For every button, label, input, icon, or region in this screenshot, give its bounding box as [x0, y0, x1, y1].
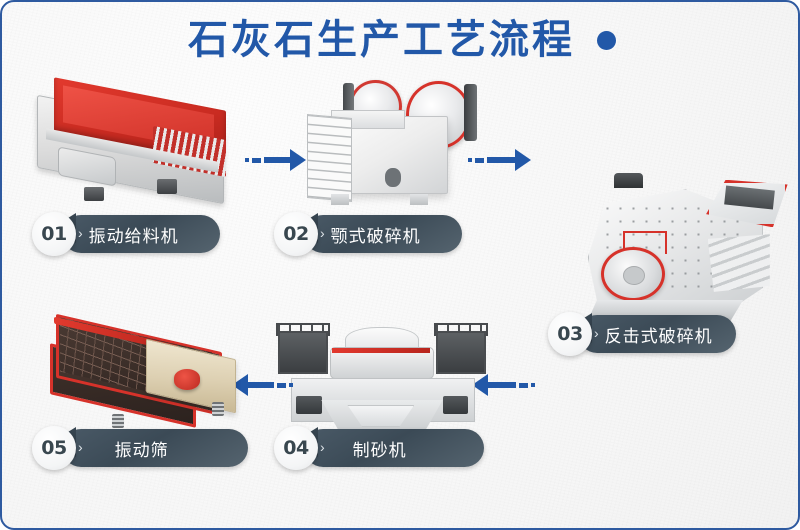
step-badge-01: 01 [32, 212, 76, 256]
sand-motor-box [443, 396, 469, 414]
impact-flywheel [601, 247, 665, 301]
screen-exciter-hub [174, 369, 200, 390]
sand-motor-box [296, 396, 322, 414]
impact-top-motor [614, 173, 643, 187]
arrow-dash [519, 383, 528, 388]
step-label-02[interactable]: 02 › 颚式破碎机 [274, 212, 462, 256]
arrow-shaft [488, 382, 516, 388]
step-badge-05: 05 [32, 426, 76, 470]
machine-image-vibrating-feeder [24, 84, 239, 206]
chevron-right-icon: › [78, 440, 83, 454]
arrow-shaft [487, 157, 515, 163]
sand-side-platform [436, 331, 485, 374]
machine-image-sand-making-machine [274, 307, 490, 429]
chevron-right-icon: › [320, 440, 325, 454]
step-label-text-02: 颚式破碎机 [331, 222, 421, 247]
chevron-right-icon: › [594, 326, 599, 340]
jaw-leg [331, 194, 349, 206]
screen-spring [212, 402, 224, 417]
step-badge-02: 02 [274, 212, 318, 256]
page-title-wrap: 石灰石生产工艺流程 [2, 20, 800, 60]
arrow-dot [468, 158, 472, 162]
jaw-leg [410, 194, 428, 206]
step-label-text-05: 振动筛 [115, 436, 169, 461]
step-label-05[interactable]: 05 › 振动筛 [32, 426, 248, 470]
arrow-shaft [248, 382, 274, 388]
arrow-dash [475, 158, 484, 163]
step-pill-01[interactable]: › 振动给料机 [62, 215, 220, 253]
machine-image-vibrating-screen [44, 322, 244, 434]
arrow-02-to-03 [468, 150, 531, 170]
feeder-foot [157, 179, 176, 194]
step-badge-04: 04 [274, 426, 318, 470]
machine-image-jaw-crusher [302, 76, 482, 208]
step-pill-03[interactable]: › 反击式破碎机 [578, 315, 736, 353]
flowchart-canvas: 石灰石生产工艺流程 [0, 0, 800, 530]
step-pill-05[interactable]: › 振动筛 [62, 429, 248, 467]
jaw-belt-guard [464, 84, 477, 141]
step-label-text-03: 反击式破碎机 [605, 322, 713, 347]
step-badge-03: 03 [548, 312, 592, 356]
machine-image-impact-crusher [570, 167, 792, 327]
jaw-side-grid [307, 114, 352, 202]
impact-blow-bars [708, 234, 770, 292]
arrow-01-to-02 [245, 150, 306, 170]
step-label-01[interactable]: 01 › 振动给料机 [32, 212, 220, 256]
arrow-dash [252, 158, 261, 163]
step-pill-02[interactable]: › 颚式破碎机 [304, 215, 462, 253]
step-label-03[interactable]: 03 › 反击式破碎机 [548, 312, 736, 356]
step-label-04[interactable]: 04 › 制砂机 [274, 426, 484, 470]
arrow-head-icon [515, 149, 531, 171]
title-dot-icon [597, 31, 616, 50]
jaw-inspection-port [385, 168, 401, 186]
chevron-right-icon: › [78, 226, 83, 240]
arrow-dot [245, 158, 249, 162]
step-pill-04[interactable]: › 制砂机 [304, 429, 484, 467]
step-label-text-01: 振动给料机 [89, 222, 179, 247]
sand-red-band [332, 348, 429, 353]
feeder-foot [84, 187, 103, 202]
arrow-dot [289, 383, 293, 387]
arrow-dash [277, 383, 286, 388]
chevron-right-icon: › [320, 226, 325, 240]
arrow-shaft [264, 157, 290, 163]
sand-side-platform [278, 331, 327, 374]
step-label-text-04: 制砂机 [353, 436, 407, 461]
page-title: 石灰石生产工艺流程 [188, 20, 575, 60]
arrow-dot [531, 383, 535, 387]
